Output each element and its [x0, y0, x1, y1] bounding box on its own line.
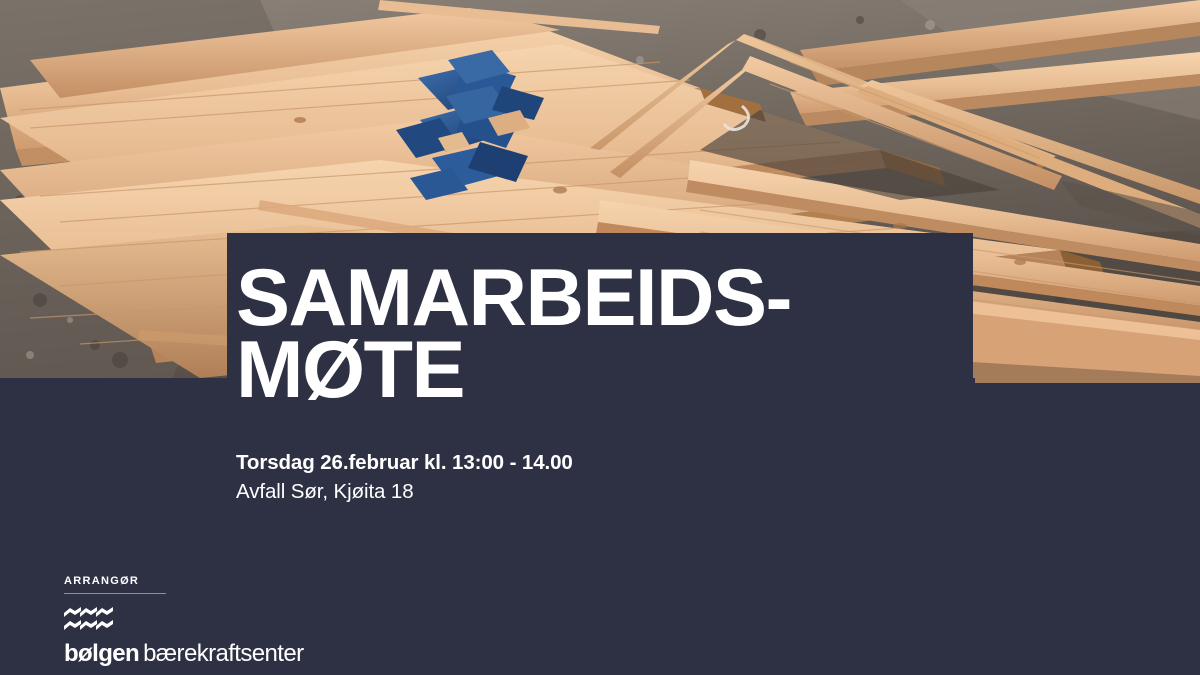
wave-mark-glyph [64, 607, 114, 633]
event-details: Torsdag 26.februar kl. 13:00 - 14.00 Avf… [236, 450, 996, 506]
poster-content: SAMARBEIDS- MØTE Torsdag 26.februar kl. … [236, 233, 996, 506]
organiser-label: ARRANGØR [64, 575, 324, 588]
logo-wordmark: bølgenbærekraftsenter [64, 640, 324, 668]
logo-name-primary: bølgen [64, 640, 139, 667]
page-title: SAMARBEIDS- MØTE [236, 233, 996, 406]
wave-mark-icon [64, 607, 114, 633]
divider [64, 593, 166, 594]
event-datetime: Torsdag 26.februar kl. 13:00 - 14.00 [236, 450, 996, 476]
organiser-block: ARRANGØR bølgenbærekraftsenter [64, 575, 324, 668]
logo-name-secondary: bærekraftsenter [143, 640, 303, 667]
event-location: Avfall Sør, Kjøita 18 [236, 478, 996, 506]
event-poster: SAMARBEIDS- MØTE Torsdag 26.februar kl. … [0, 0, 1200, 675]
